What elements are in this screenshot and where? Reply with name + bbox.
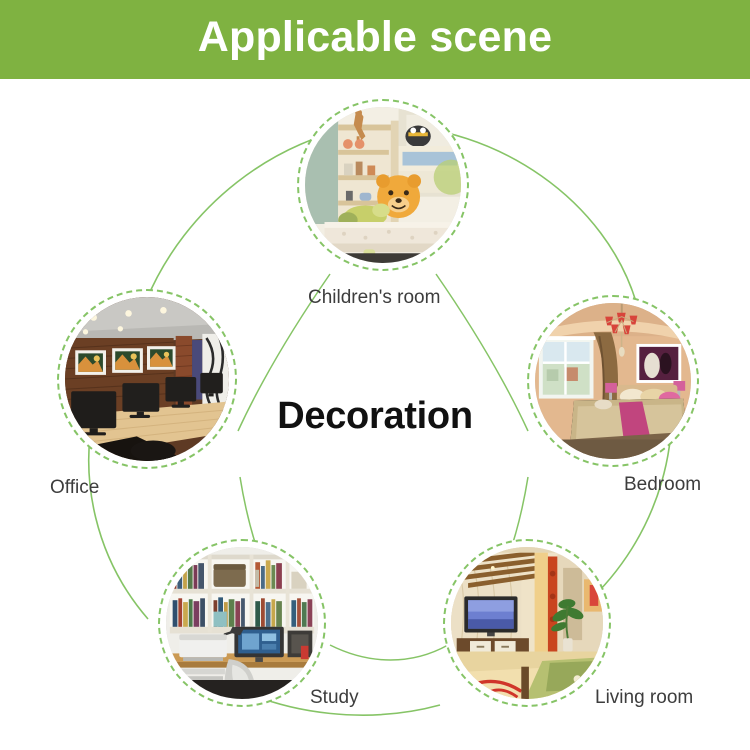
office-photo bbox=[65, 297, 229, 461]
page-title: Applicable scene bbox=[198, 16, 553, 63]
living-room-photo bbox=[451, 547, 603, 699]
bedroom-photo bbox=[535, 303, 691, 459]
scene-node-study[interactable]: Study bbox=[158, 539, 326, 707]
scene-diagram: Decoration bbox=[0, 79, 750, 750]
scene-node-children-room[interactable]: Children's room bbox=[297, 99, 469, 271]
scene-node-living-room[interactable]: Living room bbox=[443, 539, 611, 707]
scene-circle-study[interactable] bbox=[158, 539, 326, 707]
scene-label-office: Office bbox=[50, 478, 99, 497]
scene-circle-children-room[interactable] bbox=[297, 99, 469, 271]
scene-label-bedroom: Bedroom bbox=[624, 475, 701, 494]
scene-node-bedroom[interactable]: Bedroom bbox=[527, 295, 699, 467]
scene-label-children-room: Children's room bbox=[308, 288, 440, 307]
applicable-scene-page: Applicable scene Decoration bbox=[0, 0, 750, 750]
scene-circle-office[interactable] bbox=[57, 289, 237, 469]
scene-circle-living-room[interactable] bbox=[443, 539, 611, 707]
childrens-room-photo bbox=[305, 107, 461, 263]
scene-label-living-room: Living room bbox=[595, 688, 693, 707]
header-banner: Applicable scene bbox=[0, 0, 750, 79]
scene-label-study: Study bbox=[310, 688, 359, 707]
scene-circle-bedroom[interactable] bbox=[527, 295, 699, 467]
scene-node-office[interactable]: Office bbox=[57, 289, 237, 469]
study-photo bbox=[166, 547, 318, 699]
